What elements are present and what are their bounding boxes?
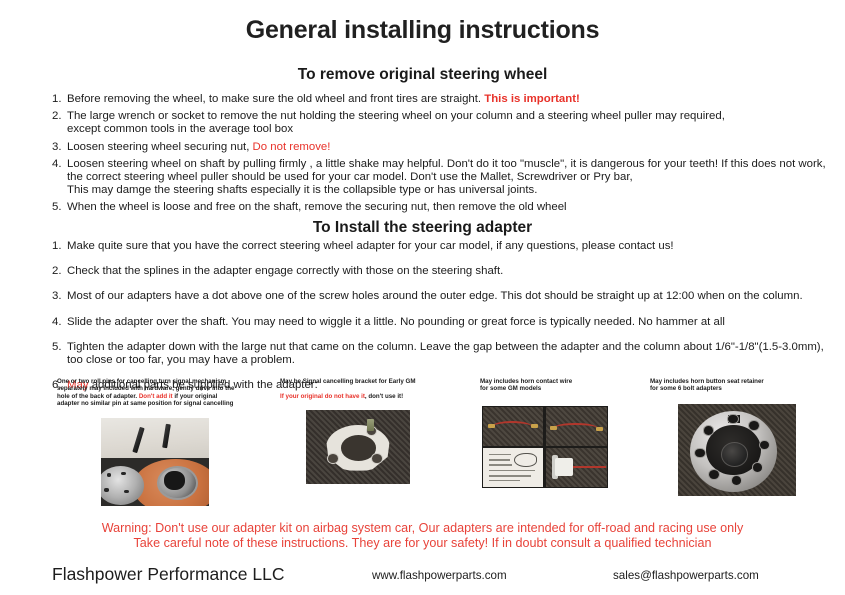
retainer-bolt-hole xyxy=(728,415,738,424)
step-text: Slide the adapter over the shaft. You ma… xyxy=(67,316,812,329)
part-column-horn-button-seat-retainer: May includes horn button seat retainerfo… xyxy=(650,378,845,393)
horn-wire xyxy=(570,466,605,468)
text-run: Tighten the adapter down with the large … xyxy=(67,341,824,353)
emphasis-text-run: If your original do not have it xyxy=(280,393,365,400)
collage-cell-wire-1 xyxy=(483,407,543,446)
step-number: 5. xyxy=(52,341,67,354)
horn-wire xyxy=(553,423,598,434)
text-run: May includes horn button seat retainer xyxy=(650,378,764,385)
safety-warning: Warning: Don't use our adapter kit on ai… xyxy=(0,521,845,551)
remove-wheel-steps: 1.Before removing the wheel, to make sur… xyxy=(52,93,812,219)
retainer-bolt-hole xyxy=(704,426,714,435)
part-caption: May includes horn contact wirefor some G… xyxy=(480,378,655,393)
step-text: Loosen steering wheel on shaft by pullin… xyxy=(67,158,826,198)
text-run: One or two roll pins for cancelling turn… xyxy=(57,378,226,385)
caption-line: May includes horn button seat retainer xyxy=(650,378,845,385)
photo-signal-cancelling-bracket xyxy=(306,410,410,484)
emphasis-text-run: This is important! xyxy=(484,93,580,105)
text-run: hole of the back of adapter. xyxy=(57,393,139,400)
email-link[interactable]: sales@flashpowerparts.com xyxy=(613,569,759,582)
bracket-bolt-hole xyxy=(327,453,339,464)
text-run: , don't use it! xyxy=(365,393,403,400)
retainer-bolt-hole xyxy=(753,463,763,472)
step-number: 1. xyxy=(52,240,67,253)
part-caption: One or two roll pins for cancelling turn… xyxy=(57,378,272,408)
photo-horn-button-seat-retainer xyxy=(678,404,796,496)
text-run: separately may included with hardware, g… xyxy=(57,385,234,392)
wire-terminal xyxy=(488,424,495,428)
emphasis-text-run: Do not remove! xyxy=(253,141,331,153)
retainer-bolt-hole xyxy=(760,441,770,450)
instruction-step: 1.Before removing the wheel, to make sur… xyxy=(52,93,812,106)
text-run: for some 6 bolt adapters xyxy=(650,385,722,392)
step-number: 5. xyxy=(52,201,67,214)
instruction-step: 3.Loosen steering wheel securing nut, Do… xyxy=(52,141,812,154)
instruction-sheet xyxy=(487,450,540,484)
retainer-center-boss xyxy=(721,442,747,467)
instruction-step: 4.Slide the adapter over the shaft. You … xyxy=(52,316,812,329)
caption-line: One or two roll pins for cancelling turn… xyxy=(57,378,272,385)
text-run: if your original xyxy=(173,393,218,400)
step-text-line: Most of our adapters have a dot above on… xyxy=(67,290,812,303)
photo-horn-contact-wire-collage xyxy=(482,406,608,488)
contact-body xyxy=(555,458,573,476)
step-text-line: The large wrench or socket to remove the… xyxy=(67,110,812,123)
text-run: except common tools in the average tool … xyxy=(67,123,293,135)
photo-background-upper xyxy=(101,418,209,458)
instruction-step: 1.Make quite sure that you have the corr… xyxy=(52,240,812,253)
text-run: The large wrench or socket to remove the… xyxy=(67,110,725,122)
step-text: Most of our adapters have a dot above on… xyxy=(67,290,812,303)
caption-line: adapter no similar pin at same position … xyxy=(57,400,272,407)
text-run: May includes horn contact wire xyxy=(480,378,572,385)
step-number: 4. xyxy=(52,158,67,171)
page-title: General installing instructions xyxy=(0,16,845,45)
step-number: 4. xyxy=(52,316,67,329)
retainer-bolt-hole xyxy=(732,476,742,485)
caption-line: for some 6 bolt adapters xyxy=(650,385,845,392)
part-caption: May includes horn button seat retainerfo… xyxy=(650,378,845,393)
step-text: Before removing the wheel, to make sure … xyxy=(67,93,812,106)
caption-line xyxy=(280,385,480,392)
step-number: 3. xyxy=(52,141,67,154)
step-number: 3. xyxy=(52,290,67,303)
diagram-outline xyxy=(514,453,537,467)
bracket-screw xyxy=(367,419,374,431)
text-run: adapter no similar pin at same position … xyxy=(57,400,233,407)
step-number: 2. xyxy=(52,265,67,278)
instruction-step: 5.Tighten the adapter down with the larg… xyxy=(52,341,812,367)
collage-cell-contact-assembly xyxy=(546,448,607,487)
step-text: Loosen steering wheel securing nut, Do n… xyxy=(67,141,812,154)
step-text-line: Tighten the adapter down with the large … xyxy=(67,341,824,354)
retainer-bolt-hole xyxy=(749,421,759,430)
caption-line: May be Signal cancelling bracket for Ear… xyxy=(280,378,480,385)
step-text: Tighten the adapter down with the large … xyxy=(67,341,824,367)
collage-cell-wire-2 xyxy=(546,407,607,446)
text-run: Loosen steering wheel on shaft by pullin… xyxy=(67,158,826,170)
instruction-step: 2.The large wrench or socket to remove t… xyxy=(52,110,812,136)
text-run: May be Signal cancelling bracket for Ear… xyxy=(280,378,415,385)
instruction-document: General installing instructions To remov… xyxy=(0,0,845,595)
wire-terminal xyxy=(550,426,557,430)
step-text-line: the correct steering wheel puller should… xyxy=(67,171,826,184)
retainer-bolt-hole xyxy=(709,470,719,479)
retainer-bolt-hole xyxy=(695,449,705,458)
step-text: When the wheel is loose and free on the … xyxy=(67,201,812,214)
instruction-step: 2.Check that the splines in the adapter … xyxy=(52,265,812,278)
text-run: too close or too far, you may have a pro… xyxy=(67,354,295,366)
step-number: 1. xyxy=(52,93,67,106)
text-run: Loosen steering wheel securing nut, xyxy=(67,141,253,153)
text-run: Before removing the wheel, to make sure … xyxy=(67,93,484,105)
section-heading-remove-wheel: To remove original steering wheel xyxy=(0,66,845,84)
text-run: Slide the adapter over the shaft. You ma… xyxy=(67,316,725,328)
caption-line: separately may included with hardware, g… xyxy=(57,385,272,392)
step-text-line: Before removing the wheel, to make sure … xyxy=(67,93,812,106)
part-column-roll-pins: One or two roll pins for cancelling turn… xyxy=(57,378,272,408)
warning-line: Warning: Don't use our adapter kit on ai… xyxy=(0,521,845,536)
adapter-bore xyxy=(164,471,186,490)
bracket-assembly xyxy=(326,425,390,471)
instruction-step: 5.When the wheel is loose and free on th… xyxy=(52,201,812,214)
instruction-step: 4.Loosen steering wheel on shaft by pull… xyxy=(52,158,812,198)
caption-line: May includes horn contact wire xyxy=(480,378,655,385)
retainer-outer-ring xyxy=(690,411,777,492)
text-run: This may damge the steering shafts espec… xyxy=(67,184,537,196)
text-run: for some GM models xyxy=(480,385,541,392)
step-text-line: Check that the splines in the adapter en… xyxy=(67,265,812,278)
section-heading-install-adapter: To Install the steering adapter xyxy=(0,219,845,237)
footer: Flashpower Performance LLC www.flashpowe… xyxy=(0,564,845,590)
step-text: Check that the splines in the adapter en… xyxy=(67,265,812,278)
step-text: The large wrench or socket to remove the… xyxy=(67,110,812,136)
instruction-step: 3.Most of our adapters have a dot above … xyxy=(52,290,812,303)
step-text: Make quite sure that you have the correc… xyxy=(67,240,812,253)
wire-terminal xyxy=(596,427,603,431)
step-text-line: Make quite sure that you have the correc… xyxy=(67,240,812,253)
emphasis-text-run: Don't add it xyxy=(139,393,173,400)
step-number: 2. xyxy=(52,110,67,123)
photo-roll-pins-and-adapter xyxy=(101,418,209,506)
step-text-line: Loosen steering wheel on shaft by pullin… xyxy=(67,158,826,171)
part-column-horn-contact-wire: May includes horn contact wirefor some G… xyxy=(480,378,655,393)
website-link[interactable]: www.flashpowerparts.com xyxy=(372,569,507,582)
additional-parts-row: One or two roll pins for cancelling turn… xyxy=(0,378,845,516)
wire-terminal xyxy=(531,424,538,428)
bracket-bolt-hole xyxy=(371,453,383,464)
text-run: Make quite sure that you have the correc… xyxy=(67,240,674,252)
text-run: Most of our adapters have a dot above on… xyxy=(67,290,803,302)
horn-wire xyxy=(491,421,533,434)
step-text-line: Slide the adapter over the shaft. You ma… xyxy=(67,316,812,329)
part-caption: May be Signal cancelling bracket for Ear… xyxy=(280,378,480,400)
step-text-line: Loosen steering wheel securing nut, Do n… xyxy=(67,141,812,154)
warning-line: Take careful note of these instructions.… xyxy=(0,536,845,551)
caption-line: If your original do not have it, don't u… xyxy=(280,393,480,400)
part-column-signal-bracket: May be Signal cancelling bracket for Ear… xyxy=(280,378,480,400)
text-run: When the wheel is loose and free on the … xyxy=(67,201,567,213)
step-text-line: When the wheel is loose and free on the … xyxy=(67,201,812,214)
company-name: Flashpower Performance LLC xyxy=(52,564,284,585)
text-run: Check that the splines in the adapter en… xyxy=(67,265,503,277)
text-run: the correct steering wheel puller should… xyxy=(67,171,633,183)
step-text-line: This may damge the steering shafts espec… xyxy=(67,184,826,197)
caption-line: for some GM models xyxy=(480,385,655,392)
step-text-line: except common tools in the average tool … xyxy=(67,123,812,136)
caption-line: hole of the back of adapter. Don't add i… xyxy=(57,393,272,400)
step-text-line: too close or too far, you may have a pro… xyxy=(67,354,824,367)
collage-cell-instruction-sheet xyxy=(483,448,543,487)
